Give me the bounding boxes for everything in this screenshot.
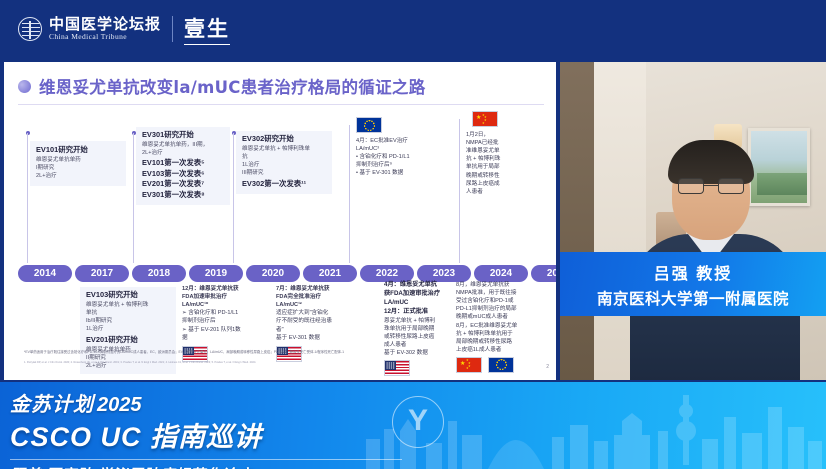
card-line: 维恩妥尤单抗 + 帕博利珠单 xyxy=(242,145,328,153)
brand-sub-label: 壹生 xyxy=(184,13,230,45)
banner-program-name: 金苏计划 xyxy=(10,388,94,417)
card-line: 8月，EC批准维恩妥尤单 xyxy=(456,322,550,330)
card-line: 晚期或转移性 xyxy=(466,172,532,180)
card-heading: EV301研究开始 xyxy=(142,130,226,141)
card-line: NMPA已经批 xyxy=(466,139,532,147)
purple-dot-icon xyxy=(18,80,31,93)
slide-footnote: *EV单药适用于治疗既往接受过含铂化疗和PD-1/L1抑制剂治疗的LA/mUC成… xyxy=(24,350,544,355)
year-pill-2024[interactable]: 2024 xyxy=(474,265,528,282)
card-line: 12月：维恩妥尤单抗获 xyxy=(182,285,282,293)
timeline-connector xyxy=(459,119,460,263)
year-pill-2017[interactable]: 2017 xyxy=(75,265,129,282)
banner-text-block: 金苏计划 2025 CSCO UC 指南巡讲 跟着 国家队 学泌尿肿瘤规范化诊疗 xyxy=(10,388,410,469)
card-heading-cont: 获FDA加速审批治疗 xyxy=(384,290,452,299)
slide-page-number: 2 xyxy=(546,364,549,370)
brand-name-cn: 中国医学论坛报 xyxy=(49,17,161,33)
event-card-ev301[interactable]: EV301研究开始 维恩妥尤单抗单药，III期， 2L+治疗 EV101第一次发… xyxy=(136,127,230,205)
banner-title: CSCO UC 指南巡讲 xyxy=(10,415,410,454)
card-line: 或转移性尿路上皮癌 xyxy=(384,333,452,341)
card-line: 1L治疗 xyxy=(86,325,172,333)
card-subheading: EV201研究开始 xyxy=(86,335,172,346)
card-line: • 含铂化疗和 PD-1/L1 xyxy=(356,153,456,161)
card-subheading: EV103第一次发表⁶ xyxy=(142,169,226,180)
year-pill-2020[interactable]: 2020 xyxy=(246,265,300,282)
year-pill-2023[interactable]: 2023 xyxy=(417,265,471,282)
card-line: 基于 EV-301 数据 xyxy=(276,334,376,342)
card-line: 维恩妥尤单抗单药 xyxy=(36,156,121,164)
card-line: 适应症扩大到"含铂化 xyxy=(276,309,376,317)
card-subheading: EV201第一次发表⁷ xyxy=(142,179,226,190)
slide-title-row: 维恩妥尤单抗改变la/mUC患者治疗格局的循证之路 xyxy=(4,62,556,98)
card-heading-cont2: LA/mUC xyxy=(384,299,452,308)
card-line: 8月，维恩妥尤单抗获 xyxy=(456,281,550,289)
timeline-canvas: EV101研究开始 维恩妥尤单抗单药 I期研究 2L+治疗 EV301研究开始 … xyxy=(4,105,556,373)
card-line: 2L+治疗 xyxy=(142,149,226,157)
card-line: 2L+治疗 xyxy=(36,172,121,180)
card-line: 者" xyxy=(276,326,376,334)
card-line: 准维恩妥尤单 xyxy=(466,147,532,155)
card-line: 7月：维恩妥尤单抗获 xyxy=(276,285,376,293)
speaker-name-card: 吕强 教授 南京医科大学第一附属医院 xyxy=(560,252,826,316)
glasses-icon xyxy=(678,178,744,194)
timeline-connector xyxy=(133,133,134,263)
wall-picture xyxy=(748,128,810,206)
year-pill-2019[interactable]: 2019 xyxy=(189,265,243,282)
timeline-connector xyxy=(349,125,350,263)
banner-tagline: 跟着 国家队 学泌尿肿瘤规范化诊疗 xyxy=(10,464,410,469)
card-line: 尿路上皮癌成 xyxy=(466,180,532,188)
event-card-nmpa-2025[interactable]: ★★ ★★★ 1月2日， NMPA已经批 准维恩妥尤单 抗 + 帕博利珠 单抗用… xyxy=(466,111,532,196)
event-card-ec-approval-2022[interactable]: 4月：EC批准EV治疗 LA/mUC³ • 含铂化疗和 PD-1/L1 抑制剂治… xyxy=(356,117,456,178)
card-line: 单抗 xyxy=(86,309,172,317)
eu-flag-icon xyxy=(356,117,382,133)
card-line: 4月：EC批准EV治疗 xyxy=(356,137,456,145)
card-line: LA/mUC¹⁰ xyxy=(182,301,282,309)
speaker-affiliation: 南京医科大学第一附属医院 xyxy=(597,287,789,309)
card-subheading: 12月：正式批准 xyxy=(384,308,452,317)
card-line: 抗 xyxy=(242,153,328,161)
card-line: • 基于 EV-301 数据 xyxy=(356,169,456,177)
china-flag-icon: ★★ ★★★ xyxy=(456,357,482,373)
card-line: LA/mUC³ xyxy=(356,145,456,153)
timeline-year-axis[interactable]: 2014 2017 2018 2019 2020 2021 2022 2023 … xyxy=(18,265,556,282)
card-line: 珠单抗用于局部晚期 xyxy=(384,325,452,333)
circle-lines-icon xyxy=(18,17,42,41)
card-line: 维恩妥尤单抗单药，III期， xyxy=(142,141,226,149)
card-line: FDA完全批准治疗 xyxy=(276,293,376,301)
card-line: 疗不耐受的既往经治患 xyxy=(276,317,376,325)
card-line: 1L治疗 xyxy=(242,161,328,169)
card-line: 受过含铂化疗和PD-1或 xyxy=(456,297,550,305)
year-pill-2014[interactable]: 2014 xyxy=(18,265,72,282)
card-line: 成人患者 xyxy=(384,341,452,349)
slide-references: 1. Petrylak DP, et al. J Clin Oncol. 202… xyxy=(24,361,544,365)
card-line: 抗 + 帕博利珠单抗用于 xyxy=(456,330,550,338)
card-line: 1月2日， xyxy=(466,131,532,139)
year-pill-2018[interactable]: 2018 xyxy=(132,265,186,282)
card-line: NMPA批准，用于既往接 xyxy=(456,289,550,297)
banner-divider xyxy=(10,459,402,460)
card-subheading: EV101第一次发表⁵ xyxy=(142,158,226,169)
card-subheading: EV301第一次发表⁸ xyxy=(142,190,226,201)
event-card-nmpa-ec-2024[interactable]: 8月，维恩妥尤单抗获 NMPA批准，用于既往接 受过含铂化疗和PD-1或 PD-… xyxy=(456,281,550,373)
card-line: 据 xyxy=(182,334,282,342)
speaker-video[interactable] xyxy=(560,62,826,380)
brand-name-en: China Medical Tribune xyxy=(49,32,161,41)
card-line: LA/mUC¹² xyxy=(276,301,376,309)
card-subheading: EV302第一次发表¹¹ xyxy=(242,179,328,190)
card-line: III期研究 xyxy=(242,169,328,177)
card-line: PD-L1抑制剂治疗的局部 xyxy=(456,305,550,313)
card-line: 抗 + 帕博利珠 xyxy=(466,155,532,163)
card-line: 单抗用于局部 xyxy=(466,163,532,171)
event-card-ev302[interactable]: EV302研究开始 维恩妥尤单抗 + 帕博利珠单 抗 1L治疗 III期研究 E… xyxy=(236,131,332,194)
card-line: ➢ 基于 EV-201 队列1数 xyxy=(182,326,282,334)
card-line: 局部晚期或转移性尿路 xyxy=(456,338,550,346)
year-pill-2022[interactable]: 2022 xyxy=(360,265,414,282)
year-pill-2025[interactable]: 2025 xyxy=(531,265,556,282)
card-line: I期研究 xyxy=(36,164,121,172)
eu-flag-icon xyxy=(488,357,514,373)
timeline-connector xyxy=(233,133,234,263)
card-line: FDA加速审批治疗 xyxy=(182,293,282,301)
card-line: 人患者 xyxy=(466,188,532,196)
timeline-connector xyxy=(27,133,28,263)
card-line: ➢ 含铂化疗和 PD-1/L1 xyxy=(182,309,282,317)
speaker-name: 吕强 教授 xyxy=(654,260,732,284)
card-line: 维恩妥尤单抗 + 帕博利珠 xyxy=(86,301,172,309)
card-line: 抑制剂治疗后 xyxy=(182,317,282,325)
year-pill-2021[interactable]: 2021 xyxy=(303,265,357,282)
card-heading: EV302研究开始 xyxy=(242,134,328,145)
presentation-slide[interactable]: 维恩妥尤单抗改变la/mUC患者治疗格局的循证之路 EV101研究开始 维恩妥尤… xyxy=(4,62,556,380)
bottom-banner: 金苏计划 2025 CSCO UC 指南巡讲 跟着 国家队 学泌尿肿瘤规范化诊疗 xyxy=(0,382,826,469)
banner-year: 2025 xyxy=(97,394,142,417)
card-line: Ib/II期研究 xyxy=(86,317,172,325)
card-heading: EV103研究开始 xyxy=(86,290,172,301)
card-line: 抑制剂治疗后⁹ xyxy=(356,161,456,169)
vertical-divider-icon xyxy=(172,16,173,42)
china-flag-icon: ★★ ★★★ xyxy=(472,111,498,127)
background-door xyxy=(560,62,594,380)
top-bar: 中国医学论坛报 China Medical Tribune 壹生 xyxy=(0,0,826,58)
event-card-ev101[interactable]: EV101研究开始 维恩妥尤单抗单药 I期研究 2L+治疗 xyxy=(30,141,126,186)
page-title: 维恩妥尤单抗改变la/mUC患者治疗格局的循证之路 xyxy=(39,74,426,98)
card-line: 晚期或mUC成人患者 xyxy=(456,313,550,321)
card-heading: EV101研究开始 xyxy=(36,145,121,156)
brand-logo[interactable]: 中国医学论坛报 China Medical Tribune 壹生 xyxy=(18,13,230,45)
card-line: 恩妥尤单抗 + 帕博利 xyxy=(384,317,452,325)
card-heading: 4月：维恩妥尤单抗 xyxy=(384,281,452,290)
